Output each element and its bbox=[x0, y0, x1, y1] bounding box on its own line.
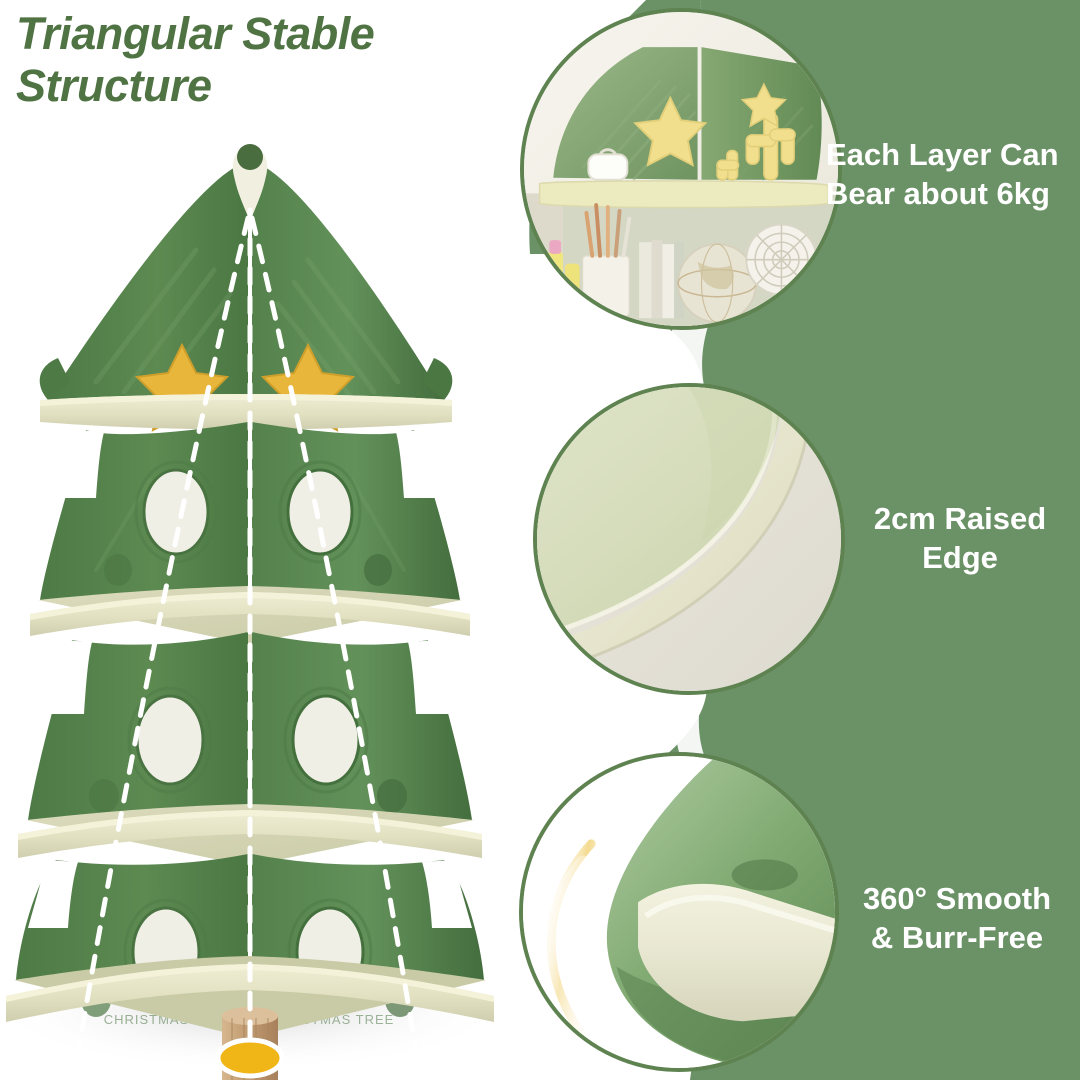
oval-cutout bbox=[288, 470, 352, 554]
dimple bbox=[377, 779, 407, 813]
topper-knob bbox=[237, 144, 263, 170]
shelf-board bbox=[540, 181, 829, 208]
callout-label-bearing-line1: Each Layer Can bbox=[826, 136, 1078, 175]
tree-corner-shelf-diagram: CHRISTMAS TREE CHRISTMAS TREE bbox=[0, 100, 500, 1080]
callout-label-smooth-line2: & Burr-Free bbox=[834, 919, 1080, 958]
callout-label-edge-line2: Edge bbox=[846, 539, 1074, 578]
oval-cutout bbox=[293, 696, 359, 784]
raised-edge-closeup bbox=[537, 387, 841, 691]
callout-label-edge-line1: 2cm Raised bbox=[846, 500, 1074, 539]
inset-smooth-edge bbox=[519, 752, 839, 1072]
page-title-line1: Triangular Stable bbox=[16, 8, 486, 60]
dimple bbox=[89, 779, 119, 813]
infographic-canvas: Triangular Stable Structure bbox=[0, 0, 1080, 1080]
contact-marker bbox=[218, 1040, 282, 1076]
tree-panel-left-tier1 bbox=[48, 162, 248, 400]
callout-label-edge: 2cm Raised Edge bbox=[846, 500, 1074, 578]
dimple bbox=[364, 554, 392, 586]
product-illustration: CHRISTMAS TREE CHRISTMAS TREE bbox=[0, 100, 500, 1080]
callout-label-smooth: 360° Smooth & Burr-Free bbox=[834, 880, 1080, 958]
callout-label-smooth-line1: 360° Smooth bbox=[834, 880, 1080, 919]
smooth-edge-closeup bbox=[523, 756, 835, 1068]
dimple bbox=[104, 554, 132, 586]
page-title: Triangular Stable Structure bbox=[16, 8, 486, 112]
callout-label-bearing-line2: Bear about 6kg bbox=[826, 175, 1078, 214]
tree-panel-right-tier1 bbox=[252, 162, 444, 400]
callout-label-bearing: Each Layer Can Bear about 6kg bbox=[826, 136, 1078, 214]
tree-panel-right-tier2 bbox=[252, 422, 460, 600]
inset-raised-edge bbox=[533, 383, 845, 695]
bag-ornament bbox=[588, 150, 627, 180]
shelf-in-use-photo bbox=[524, 12, 838, 326]
oval-cutout bbox=[137, 696, 203, 784]
inset-shelf-in-use bbox=[520, 8, 842, 330]
